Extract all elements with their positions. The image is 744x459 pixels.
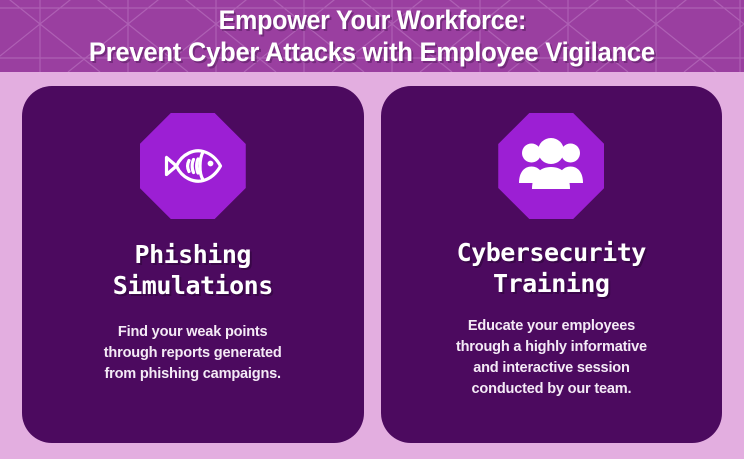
cards-container: Phishing Simulations Find your weak poin… <box>22 86 722 443</box>
card-body-text: Find your weak points through reports ge… <box>104 321 282 384</box>
card-title: Cybersecurity Training <box>457 237 646 299</box>
fish-icon <box>156 129 230 203</box>
people-group-icon <box>518 136 584 196</box>
fish-eye-icon <box>207 161 213 167</box>
header-title-line-2: Prevent Cyber Attacks with Employee Vigi… <box>89 36 655 68</box>
octagon-badge <box>140 113 246 219</box>
card-phishing-simulations[interactable]: Phishing Simulations Find your weak poin… <box>22 86 364 443</box>
infographic-root: Empower Your Workforce: Prevent Cyber At… <box>0 0 744 459</box>
header-title-line-1: Empower Your Workforce: <box>218 4 526 36</box>
octagon-badge <box>498 113 604 219</box>
card-title: Phishing Simulations <box>113 239 273 301</box>
header-banner: Empower Your Workforce: Prevent Cyber At… <box>0 0 744 72</box>
header-title-block: Empower Your Workforce: Prevent Cyber At… <box>0 0 744 72</box>
card-body-text: Educate your employees through a highly … <box>456 315 647 399</box>
card-cybersecurity-training[interactable]: Cybersecurity Training Educate your empl… <box>381 86 723 443</box>
